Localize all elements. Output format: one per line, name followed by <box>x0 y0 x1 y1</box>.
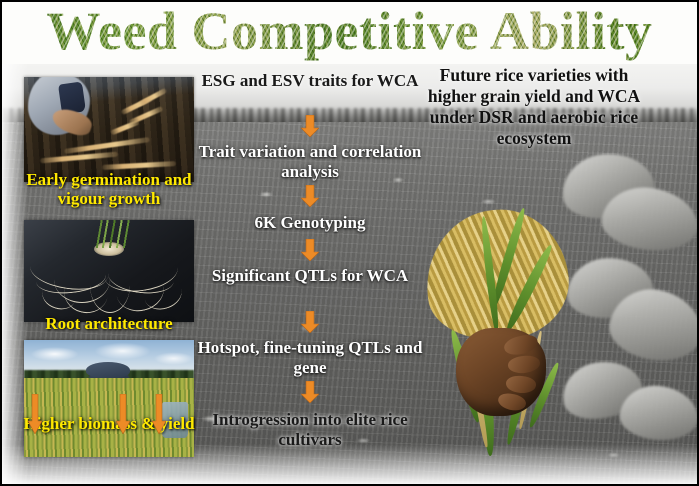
flow-step-4: Significant QTLs for WCA <box>198 266 422 286</box>
photo-root-architecture <box>24 220 194 322</box>
arrow-down-icon <box>301 185 319 207</box>
page-title: Weed Competitive Ability <box>2 0 697 62</box>
arrow-down-icon <box>152 394 166 434</box>
flow-step-3: 6K Genotyping <box>198 213 422 233</box>
flow-step-5: Hotspot, fine-tuning QTLs and gene <box>196 338 424 378</box>
background-scene: Early germination and vigour growth Root… <box>2 62 697 484</box>
arrow-down-icon <box>116 394 130 434</box>
arrow-down-icon <box>28 394 42 434</box>
poster-canvas: Early germination and vigour growth Root… <box>0 0 699 486</box>
photo-higher-biomass <box>24 340 194 457</box>
flow-step-2: Trait variation and correlation analysis <box>198 142 422 182</box>
photo-caption-root-architecture: Root architecture <box>16 314 202 333</box>
flow-step-1: ESG and ESV traits for WCA <box>198 71 422 91</box>
arrow-down-icon <box>301 239 319 261</box>
photo-biomass-hat <box>86 362 130 378</box>
photo-caption-higher-biomass: Higher biomass & yield <box>16 414 202 433</box>
photo-caption-early-germination: Early germination and vigour growth <box>16 170 202 208</box>
arrow-down-icon <box>301 311 319 333</box>
flow-step-6: Introgression into elite rice cultivars <box>192 410 428 450</box>
root-shoot-leaves <box>94 220 132 248</box>
arrow-down-icon <box>301 115 319 137</box>
photo-early-germination <box>24 77 194 182</box>
arrow-down-icon <box>301 381 319 403</box>
outcome-statement: Future rice varieties with higher grain … <box>420 65 648 149</box>
title-band: Weed Competitive Ability <box>2 2 697 64</box>
